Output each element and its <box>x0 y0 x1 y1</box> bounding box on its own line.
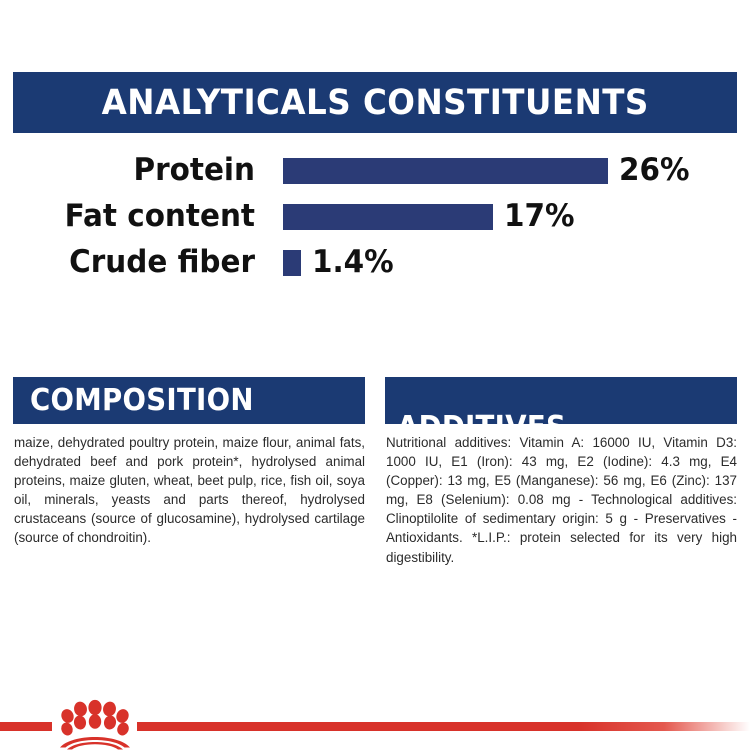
composition-header-title: COMPOSITION <box>30 383 254 418</box>
bar-label-fat-content: Fat content <box>13 201 255 232</box>
royal-canin-crown-icon <box>54 696 136 750</box>
bar-track-protein: 26% <box>283 155 693 186</box>
constituents-bar-chart: Protein 26% Fat content 17% Crude fiber … <box>0 148 750 288</box>
bar-fill-fat-content <box>283 204 493 230</box>
chart-row: Crude fiber 1.4% <box>0 240 750 285</box>
composition-header: COMPOSITION <box>13 377 365 424</box>
chart-row: Protein 26% <box>0 148 750 193</box>
bar-fill-crude-fiber <box>283 250 301 276</box>
bar-track-crude-fiber: 1.4% <box>283 247 398 278</box>
bar-label-crude-fiber: Crude fiber <box>13 247 255 278</box>
additives-body-text: Nutritional additives: Vitamin A: 16000 … <box>386 433 737 567</box>
nutrition-panel: ANALYTICALS CONSTITUENTS Protein 26% Fat… <box>0 0 750 750</box>
analyticals-header-title: ANALYTICALS CONSTITUENTS <box>101 83 648 123</box>
bar-label-protein: Protein <box>13 155 255 186</box>
brand-rule-left <box>0 722 52 731</box>
chart-row: Fat content 17% <box>0 194 750 239</box>
bar-value-fat-content: 17% <box>504 201 574 232</box>
composition-body-text: maize, dehydrated poultry protein, maize… <box>14 433 365 548</box>
brand-rule-right <box>137 722 750 731</box>
bar-value-protein: 26% <box>619 155 689 186</box>
bar-fill-protein <box>283 158 608 184</box>
bar-track-fat-content: 17% <box>283 201 578 232</box>
bar-value-crude-fiber: 1.4% <box>312 247 394 278</box>
additives-header: ADDITIVES (per kg) <box>385 377 737 424</box>
analyticals-constituents-header: ANALYTICALS CONSTITUENTS <box>13 72 737 133</box>
brand-footer <box>0 696 750 750</box>
